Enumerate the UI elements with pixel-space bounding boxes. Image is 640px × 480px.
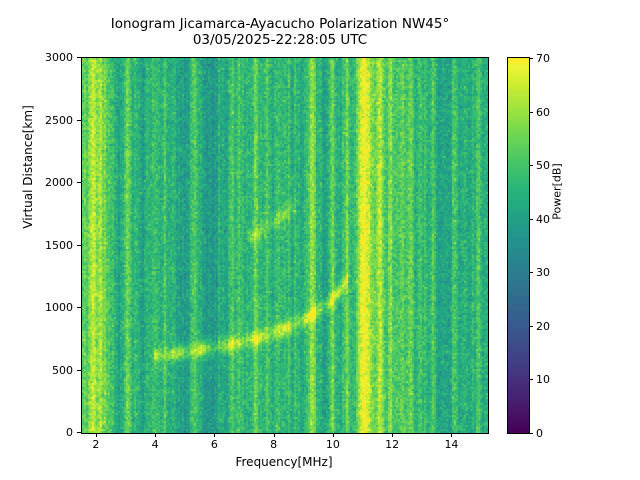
chart-title: Ionogram Jicamarca-Ayacucho Polarization…	[0, 16, 560, 48]
x-tick-mark	[392, 433, 393, 437]
x-tick-mark	[451, 433, 452, 437]
y-tick-mark	[77, 120, 81, 121]
ionogram-figure: Ionogram Jicamarca-Ayacucho Polarization…	[0, 0, 640, 480]
y-tick-label: 3000	[29, 52, 73, 63]
colorbar: 010203040506070	[507, 57, 530, 434]
x-tick-label: 12	[372, 439, 412, 450]
y-tick-mark	[77, 370, 81, 371]
y-tick-label: 2500	[29, 115, 73, 126]
colorbar-tick-label: 70	[536, 53, 550, 64]
y-tick-mark	[77, 307, 81, 308]
colorbar-tick-mark	[529, 272, 533, 273]
colorbar-tick-mark	[529, 112, 533, 113]
colorbar-tick-mark	[529, 219, 533, 220]
ionogram-heatmap	[82, 58, 488, 433]
colorbar-tick-label: 20	[536, 321, 550, 332]
colorbar-tick-mark	[529, 326, 533, 327]
y-axis-label: Virtual Distance[km]	[21, 57, 35, 277]
x-tick-label: 14	[431, 439, 471, 450]
colorbar-tick-mark	[529, 433, 533, 434]
colorbar-tick-label: 30	[536, 267, 550, 278]
x-tick-mark	[96, 433, 97, 437]
y-tick-label: 1500	[29, 240, 73, 251]
x-tick-mark	[214, 433, 215, 437]
heatmap-axes	[81, 57, 489, 434]
x-tick-mark	[274, 433, 275, 437]
x-tick-mark	[333, 433, 334, 437]
colorbar-tick-label: 40	[536, 214, 550, 225]
y-tick-mark	[77, 182, 81, 183]
colorbar-tick-mark	[529, 165, 533, 166]
y-tick-label: 2000	[29, 177, 73, 188]
y-tick-mark	[77, 432, 81, 433]
colorbar-tick-label: 10	[536, 374, 550, 385]
x-tick-label: 6	[194, 439, 234, 450]
colorbar-tick-mark	[529, 379, 533, 380]
y-tick-mark	[77, 245, 81, 246]
x-tick-label: 10	[313, 439, 353, 450]
x-tick-label: 8	[254, 439, 294, 450]
y-tick-label: 500	[29, 365, 73, 376]
y-tick-label: 0	[29, 427, 73, 438]
colorbar-gradient	[508, 58, 529, 433]
x-axis-label: Frequency[MHz]	[81, 455, 487, 469]
y-tick-label: 1000	[29, 302, 73, 313]
colorbar-tick-label: 50	[536, 160, 550, 171]
colorbar-tick-mark	[529, 58, 533, 59]
x-tick-label: 2	[76, 439, 116, 450]
x-tick-mark	[155, 433, 156, 437]
colorbar-tick-label: 0	[536, 428, 543, 439]
y-tick-mark	[77, 57, 81, 58]
colorbar-label: Power[dB]	[551, 132, 564, 252]
colorbar-tick-label: 60	[536, 107, 550, 118]
x-tick-label: 4	[135, 439, 175, 450]
